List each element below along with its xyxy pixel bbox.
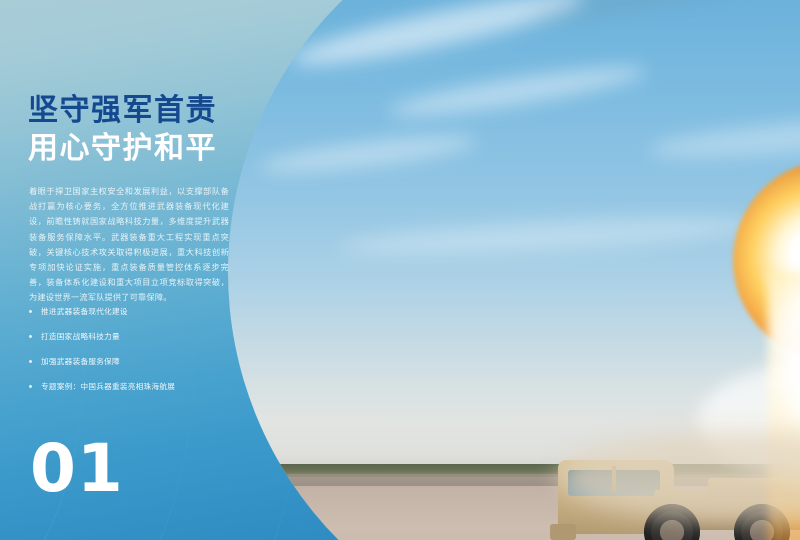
list-item: 打造国家战略科技力量 (29, 328, 259, 345)
list-item-label: 专题案例：中国兵器重装亮相珠海航展 (41, 381, 175, 392)
bullet-dot-icon (28, 359, 32, 363)
list-item: 推进武器装备现代化建设 (29, 303, 259, 320)
list-item-label: 加强武器装备服务保障 (41, 356, 120, 367)
hero-image (228, 0, 800, 540)
hero-image-circle-mask (228, 0, 800, 540)
title-line-2: 用心守护和平 (28, 130, 278, 168)
list-item-label: 推进武器装备现代化建设 (41, 306, 128, 317)
poster-slide: 坚守强军首责 用心守护和平 着眼于捍卫国家主权安全和发展利益，以支撑部队备战打赢… (0, 0, 800, 540)
list-item: 专题案例：中国兵器重装亮相珠海航展 (29, 378, 259, 395)
vehicle-bumper (550, 524, 576, 540)
list-item: 加强武器装备服务保障 (29, 353, 259, 370)
title-line-1: 坚守强军首责 (28, 92, 278, 130)
text-column: 坚守强军首责 用心守护和平 着眼于捍卫国家主权安全和发展利益，以支撑部队备战打赢… (0, 0, 300, 540)
bullet-dot-icon (28, 334, 32, 338)
bullet-list: 推进武器装备现代化建设 打造国家战略科技力量 加强武器装备服务保障 专题案例：中… (29, 303, 259, 403)
bullet-dot-icon (28, 309, 32, 313)
list-item-label: 打造国家战略科技力量 (41, 331, 120, 342)
bullet-dot-icon (28, 384, 32, 388)
body-paragraph: 着眼于捍卫国家主权安全和发展利益，以支撑部队备战打赢为核心要务，全方位推进武器装… (29, 184, 229, 305)
section-number: 01 (30, 436, 124, 502)
page-title: 坚守强军首责 用心守护和平 (28, 92, 278, 169)
